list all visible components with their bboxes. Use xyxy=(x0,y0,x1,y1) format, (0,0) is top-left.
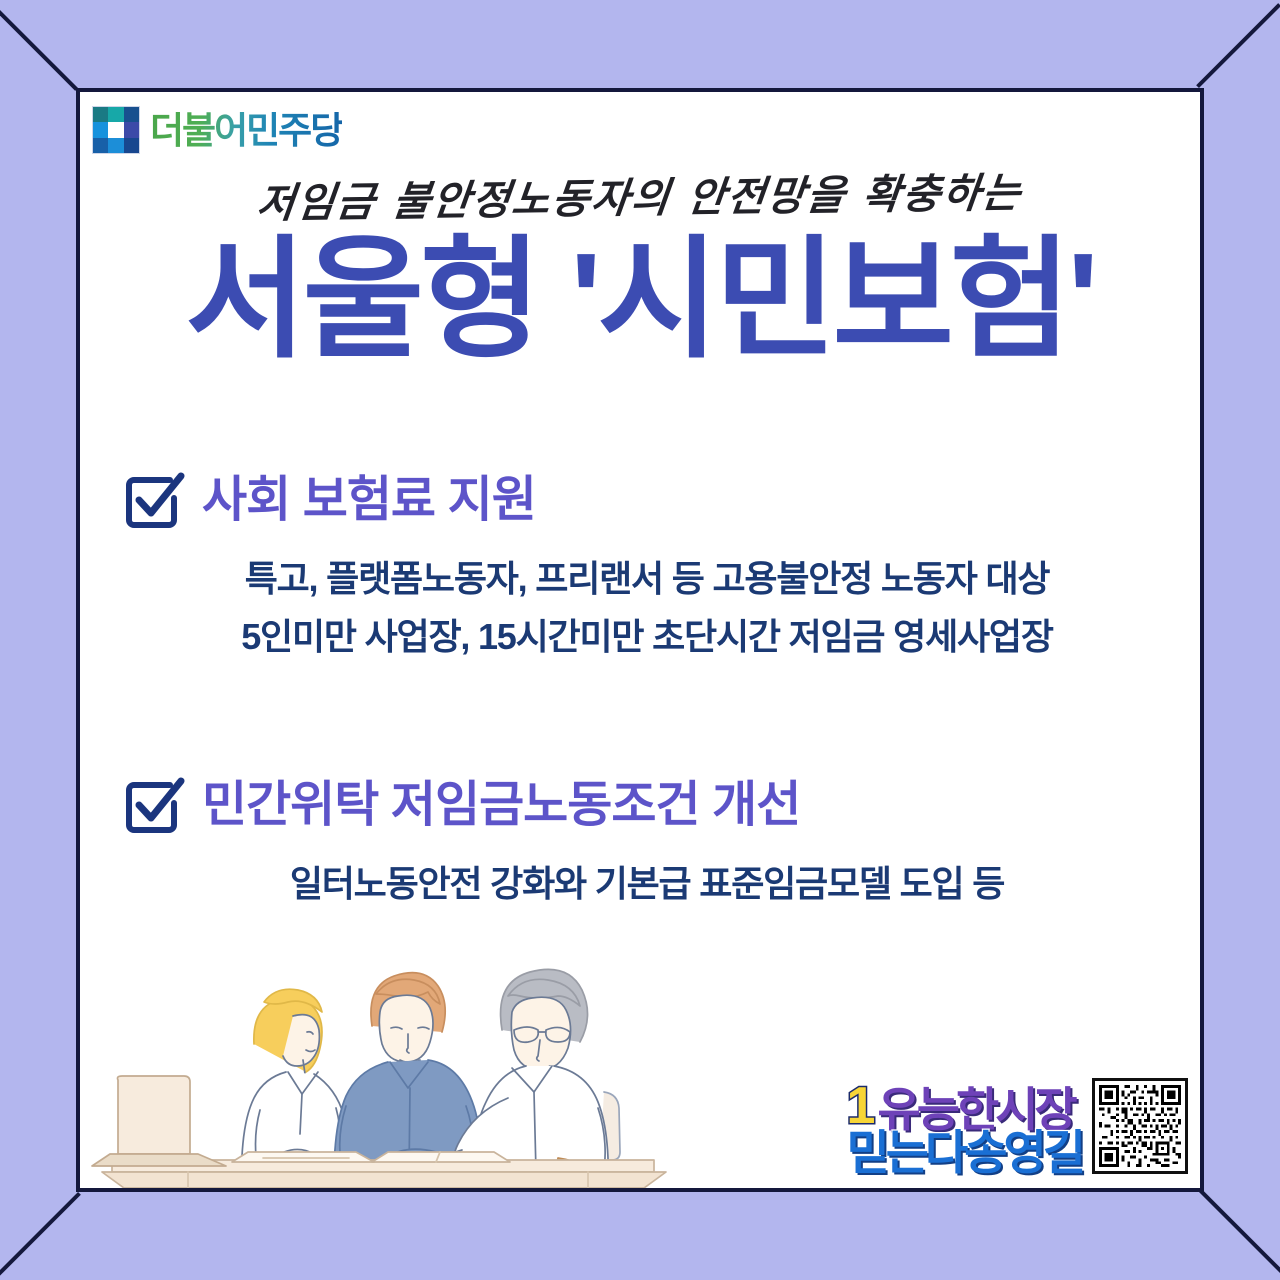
badge-row-top: 1 유능한시장 xyxy=(847,1083,1082,1131)
logo-tile xyxy=(124,138,139,153)
section-header: 민간위탁 저임금노동조건 개선 xyxy=(124,777,1170,833)
body-line: 5인미만 사업장, 15시간미만 초단시간 저임금 영세사업장 xyxy=(124,608,1170,666)
logo-tile xyxy=(124,107,139,122)
logo-tile xyxy=(108,122,123,137)
badge-slogan-line-2: 믿는다송영길 xyxy=(847,1131,1082,1174)
logo-tile xyxy=(93,122,108,137)
campaign-badge: 1 유능한시장 믿는다송영길 xyxy=(847,1078,1188,1174)
logo-tile xyxy=(124,122,139,137)
badge-text: 1 유능한시장 믿는다송영길 xyxy=(847,1083,1082,1174)
section-title: 민간위탁 저임금노동조건 개선 xyxy=(202,781,800,830)
section-body: 일터노동안전 강화와 기본급 표준임금모델 도입 등 xyxy=(124,855,1170,913)
checkbox-checked-icon xyxy=(124,777,186,833)
party-wordmark: 더불어민주당 xyxy=(150,112,342,149)
qr-code[interactable] xyxy=(1092,1078,1188,1174)
badge-number: 1 xyxy=(847,1083,874,1131)
section-body: 특고, 플랫폼노동자, 프리랜서 등 고용불안정 노동자 대상 5인미만 사업장… xyxy=(124,550,1170,666)
poster-subtitle: 저임금 불안정노동자의 안전망을 확충하는 xyxy=(76,156,1204,232)
checkbox-checked-icon xyxy=(124,472,186,528)
section-header: 사회 보험료 지원 xyxy=(124,472,1170,528)
poster-card: 더불어민주당 저임금 불안정노동자의 안전망을 확충하는 서울형 '시민보험' … xyxy=(76,88,1204,1192)
party-logo: 더불어민주당 xyxy=(92,106,342,154)
body-line: 일터노동안전 강화와 기본급 표준임금모델 도입 등 xyxy=(124,855,1170,913)
logo-tile xyxy=(93,107,108,122)
policy-section-social-insurance: 사회 보험료 지원 특고, 플랫폼노동자, 프리랜서 등 고용불안정 노동자 대… xyxy=(124,472,1170,666)
logo-tile xyxy=(93,138,108,153)
democratic-party-of-korea-logo-icon xyxy=(92,106,140,154)
body-line: 특고, 플랫폼노동자, 프리랜서 등 고용불안정 노동자 대상 xyxy=(124,550,1170,608)
logo-tile xyxy=(108,138,123,153)
mat-corner-line-top-right xyxy=(1196,3,1280,88)
mat-corner-line-top-left xyxy=(0,6,78,91)
three-people-meeting-at-table-illustration xyxy=(88,920,678,1188)
section-title: 사회 보험료 지원 xyxy=(202,476,536,525)
poster-title: 서울형 '시민보험' xyxy=(80,222,1200,378)
logo-tile xyxy=(108,107,123,122)
badge-slogan-line-1: 유능한시장 xyxy=(877,1088,1073,1131)
policy-section-outsourcing-wage: 민간위탁 저임금노동조건 개선 일터노동안전 강화와 기본급 표준임금모델 도입… xyxy=(124,777,1170,913)
mat-corner-line-bottom-right xyxy=(1199,1189,1280,1274)
mat-corner-line-bottom-left xyxy=(0,1192,81,1277)
badge-row-bottom: 믿는다송영길 xyxy=(847,1131,1082,1174)
